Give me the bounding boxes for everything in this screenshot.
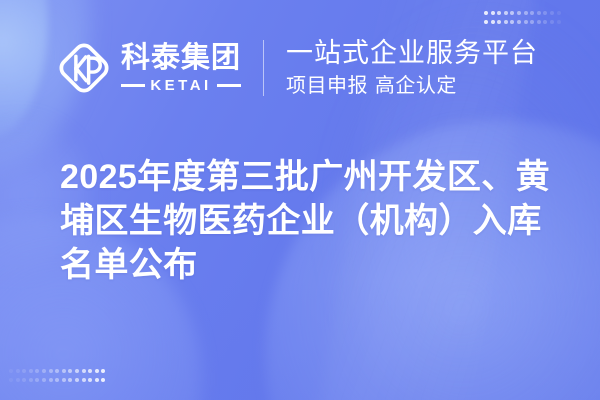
grid-dot [95,378,99,382]
decorative-dot-grid-bottom-left [9,369,105,382]
grid-dot [55,378,59,382]
dot-grid-row [9,369,105,373]
grid-dot [22,378,26,382]
background-bottom-shade [0,280,600,400]
header-vertical-divider [263,40,264,96]
grid-dot [55,369,59,373]
grid-dot [42,369,46,373]
wordmark-rule-left [121,84,145,87]
grid-dot [95,369,99,373]
grid-dot [35,369,39,373]
grid-dot [29,369,33,373]
announcement-banner: 科泰集团 KETAI 一站式企业服务平台 项目申报 高企认定 2025年度第三批… [0,0,600,400]
grid-dot [29,378,33,382]
brand-name-en: KETAI [150,78,211,93]
grid-dot [16,369,20,373]
grid-dot [101,369,105,373]
grid-dot [42,378,46,382]
tagline-primary: 一站式企业服务平台 [286,38,538,68]
grid-dot [82,378,86,382]
grid-dot [35,378,39,382]
grid-dot [49,369,53,373]
grid-dot [49,378,53,382]
grid-dot [9,378,13,382]
grid-dot [88,369,92,373]
grid-dot [68,369,72,373]
tagline-secondary: 项目申报 高企认定 [286,73,538,98]
grid-dot [88,378,92,382]
brand-name-en-row: KETAI [121,78,241,93]
grid-dot [82,369,86,373]
banner-header: 科泰集团 KETAI 一站式企业服务平台 项目申报 高企认定 [0,0,600,136]
grid-dot [75,369,79,373]
wordmark-rule-right [217,84,241,87]
brand-lockup[interactable]: 科泰集团 KETAI [55,39,241,97]
brand-name-cn: 科泰集团 [121,44,241,73]
tagline-block: 一站式企业服务平台 项目申报 高企认定 [286,38,538,97]
brand-wordmark: 科泰集团 KETAI [121,44,241,93]
dot-grid-row [9,378,105,382]
grid-dot [62,369,66,373]
grid-dot [22,369,26,373]
page-title: 2025年度第三批广州开发区、黄埔区生物医药企业（机构）入库名单公布 [60,155,560,287]
ketai-diamond-kp-logo-icon [55,39,113,97]
grid-dot [62,378,66,382]
grid-dot [68,378,72,382]
grid-dot [101,378,105,382]
grid-dot [16,378,20,382]
grid-dot [9,369,13,373]
grid-dot [75,378,79,382]
